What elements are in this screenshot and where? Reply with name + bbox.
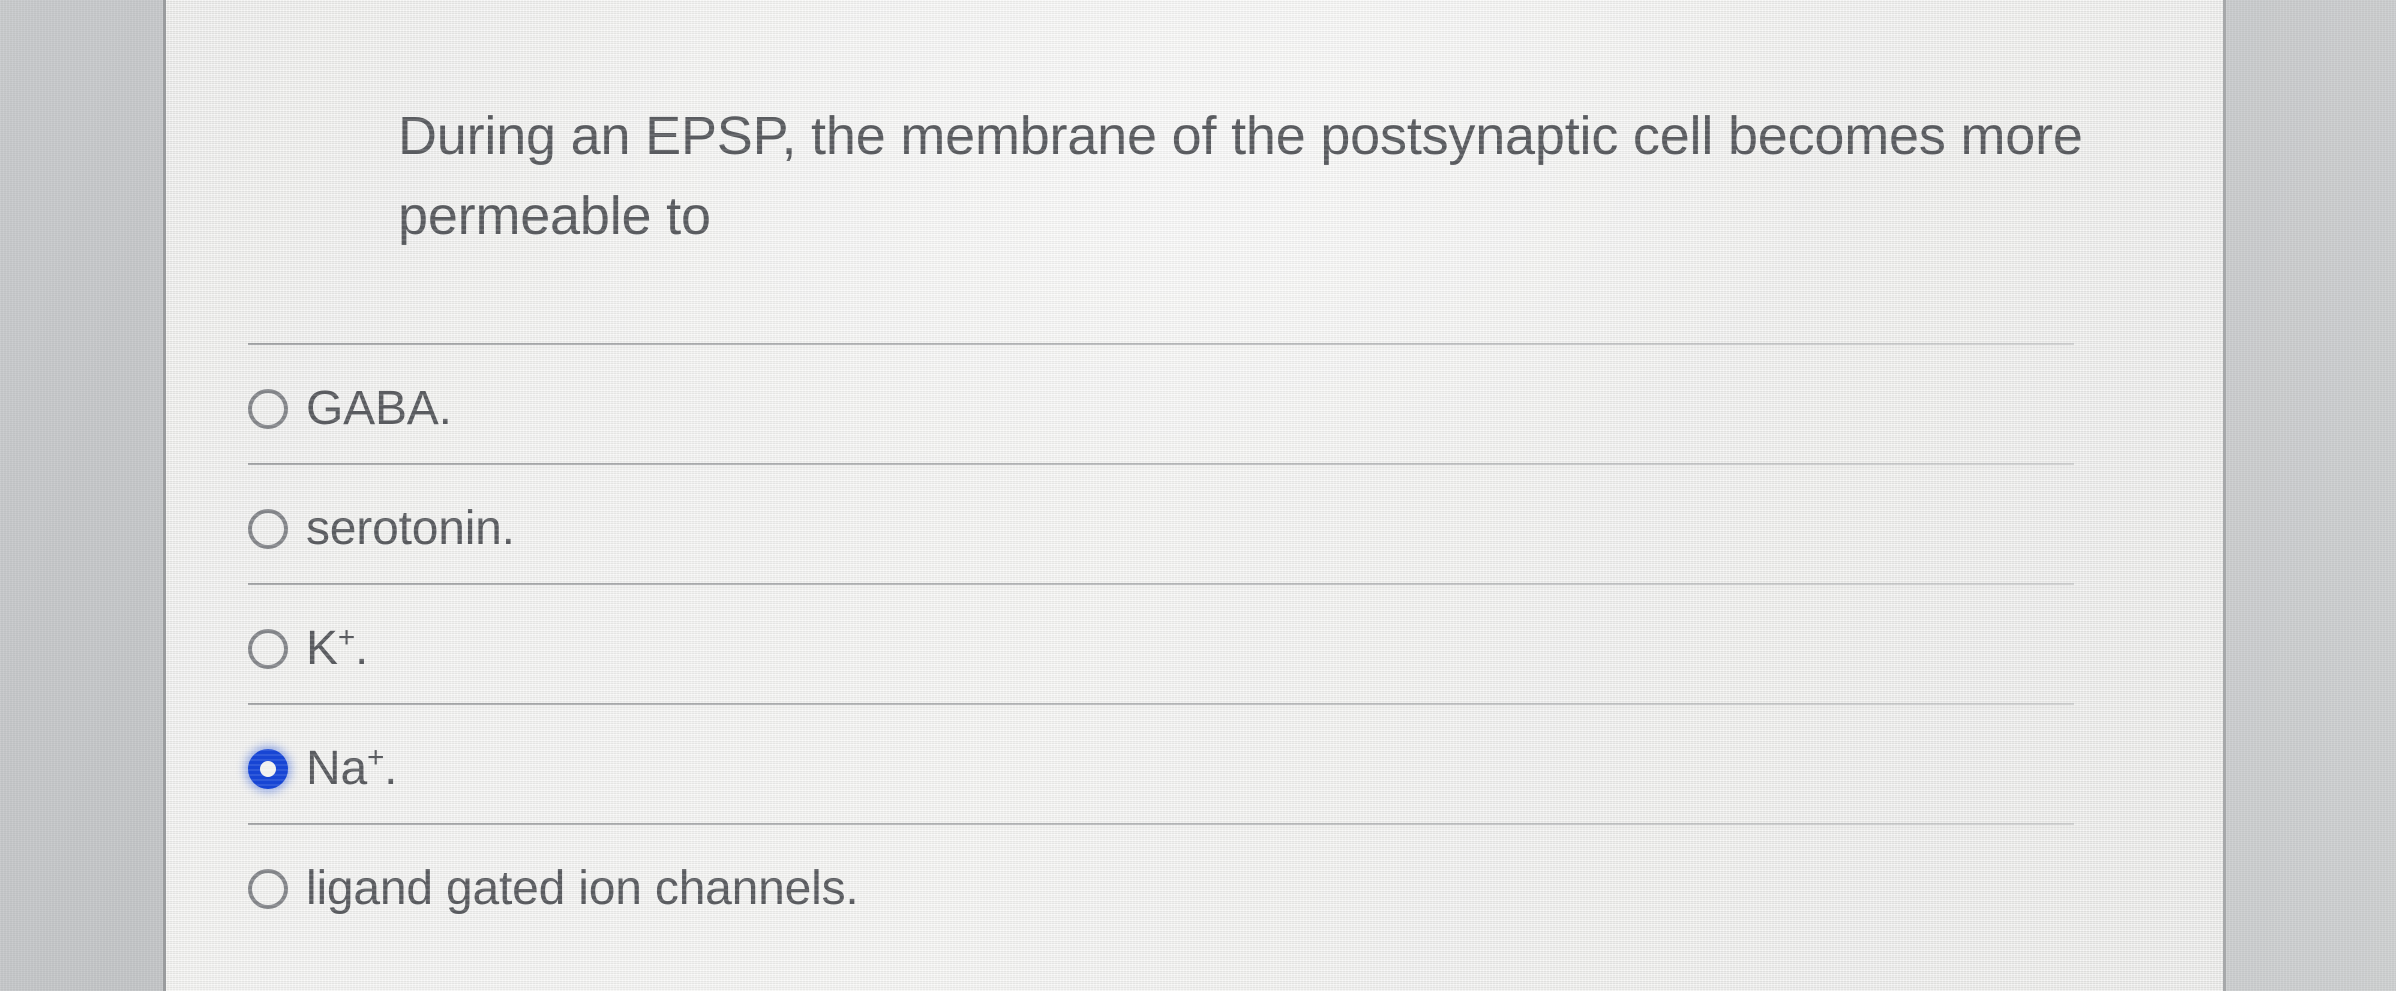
option-label-main: Na: [306, 742, 367, 795]
question-stem-text: During an EPSP, the membrane of the post…: [398, 96, 2098, 256]
answer-option-row[interactable]: K+.: [166, 583, 2223, 703]
option-label-tail: .: [355, 622, 368, 675]
option-label: serotonin.: [306, 503, 515, 555]
radio-unselected-icon[interactable]: [248, 629, 288, 669]
answer-option-row[interactable]: ligand gated ion channels.: [166, 823, 2223, 943]
option-ligand[interactable]: ligand gated ion channels.: [248, 863, 859, 915]
option-potassium[interactable]: K+.: [248, 623, 368, 675]
answer-option-row[interactable]: Na+.: [166, 703, 2223, 823]
radio-unselected-icon[interactable]: [248, 389, 288, 429]
answer-option-row[interactable]: GABA.: [166, 343, 2223, 463]
option-label-superscript: +: [367, 741, 384, 774]
answer-options-list: GABA.serotonin.K+.Na+.ligand gated ion c…: [166, 343, 2223, 943]
option-divider: [248, 343, 2074, 345]
radio-unselected-icon[interactable]: [248, 509, 288, 549]
option-divider: [248, 463, 2074, 465]
answer-option-row[interactable]: serotonin.: [166, 463, 2223, 583]
option-label-tail: .: [384, 742, 397, 795]
option-label: K+.: [306, 623, 368, 675]
radio-unselected-icon[interactable]: [248, 869, 288, 909]
option-sodium[interactable]: Na+.: [248, 743, 397, 795]
option-label: Na+.: [306, 743, 397, 795]
option-divider: [248, 823, 2074, 825]
radio-selected-icon[interactable]: [248, 749, 288, 789]
option-label: GABA.: [306, 383, 452, 435]
option-serotonin[interactable]: serotonin.: [248, 503, 515, 555]
option-label-superscript: +: [338, 621, 355, 654]
option-label-main: K: [306, 622, 338, 675]
option-divider: [248, 703, 2074, 705]
question-card: During an EPSP, the membrane of the post…: [163, 0, 2226, 991]
option-gaba[interactable]: GABA.: [248, 383, 452, 435]
option-label: ligand gated ion channels.: [306, 863, 859, 915]
option-divider: [248, 583, 2074, 585]
